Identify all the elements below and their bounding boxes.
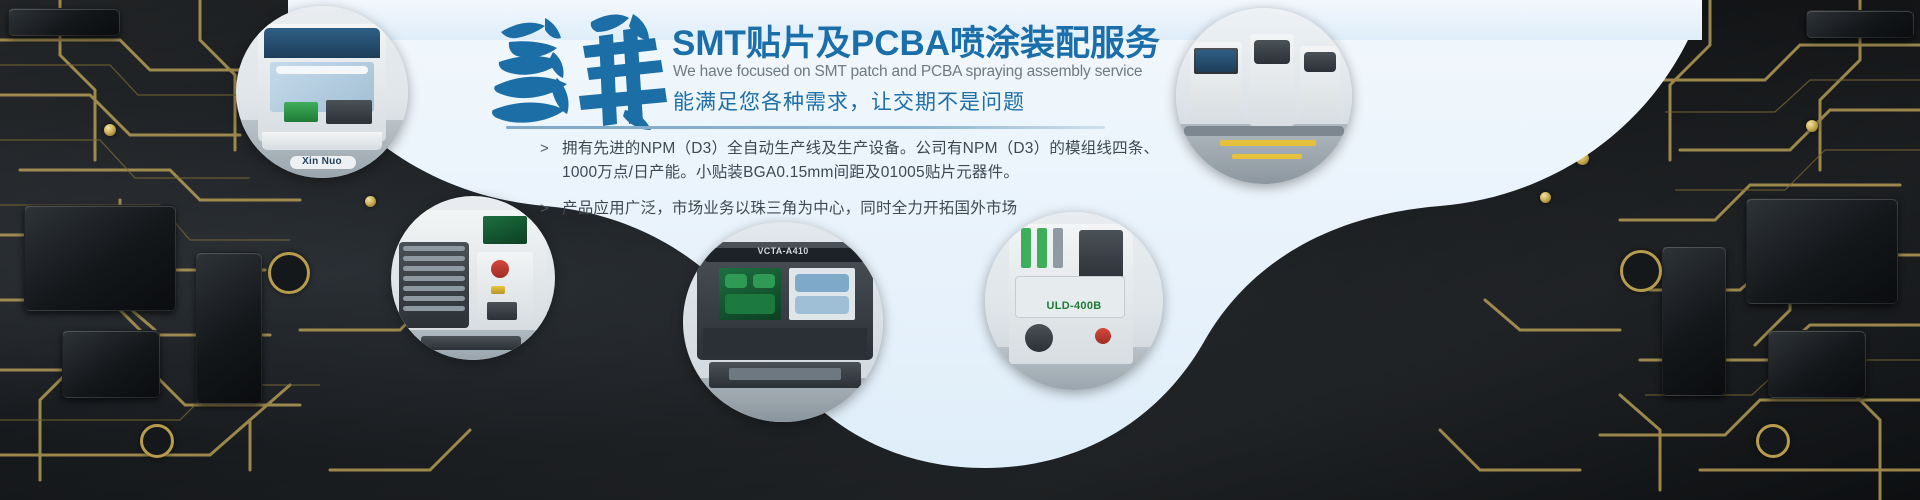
bullet-marker-icon: >: [540, 137, 562, 185]
bullet-text: 产品应用广泛，市场业务以珠三角为中心，同时全力开拓国外市场: [562, 197, 1017, 221]
photo-smt-printer: Xin Nuo: [236, 6, 408, 178]
promo-banner: SMT贴片及PCBA喷涂装配服务 We have focused on SMT …: [0, 0, 1920, 500]
photo-caption: ULD-400B: [985, 300, 1163, 312]
section-divider: [506, 126, 1105, 129]
photo-production-line: [1176, 8, 1352, 184]
photo-uld-loader: ULD-400B: [985, 212, 1163, 390]
banner-headline: SMT贴片及PCBA喷涂装配服务: [672, 24, 1160, 64]
calligraphy-duonian: [487, 6, 667, 131]
banner-subheadline-english: We have focused on SMT patch and PCBA sp…: [673, 63, 1142, 81]
bullet-text: 拥有先进的NPM（D3）全自动生产线及生产设备。公司有NPM（D3）的模组线四条…: [562, 137, 1180, 185]
photo-pick-and-place: [391, 196, 555, 360]
photo-caption: Xin Nuo: [236, 156, 408, 167]
photo-aoi-inspection: VCTA-A410: [683, 222, 883, 422]
banner-tagline: 能满足您各种需求，让交期不是问题: [673, 86, 1025, 116]
list-item: > 拥有先进的NPM（D3）全自动生产线及生产设备。公司有NPM（D3）的模组线…: [540, 137, 1180, 185]
photo-caption: VCTA-A410: [683, 246, 883, 256]
